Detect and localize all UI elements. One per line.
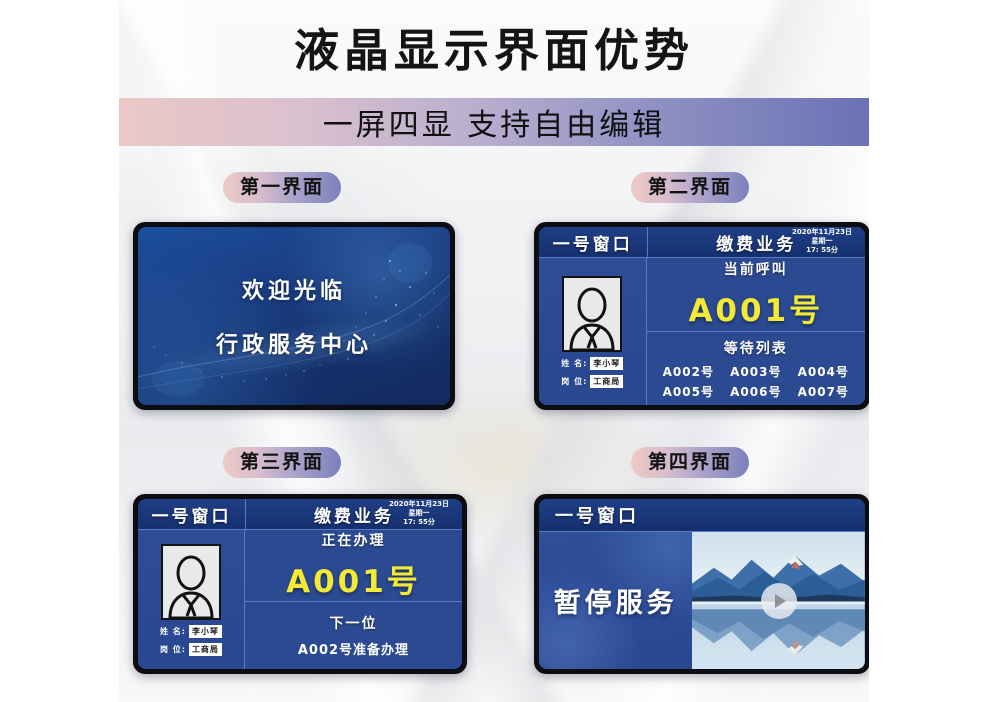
- waiting-ticket: A004号: [790, 363, 857, 380]
- processing-body: 姓 名: 李小琴 岗 位: 工商局 正在办理 A001号: [138, 530, 462, 669]
- time-text: 17: 55分: [783, 246, 861, 255]
- staff-name-row: 姓 名: 李小琴: [160, 625, 222, 638]
- paused-header: 一号窗口: [539, 499, 865, 532]
- waiting-ticket: A002号: [655, 363, 722, 380]
- processing-number: A001号: [286, 556, 421, 601]
- welcome-display: 欢迎光临 行政服务中心: [138, 227, 450, 405]
- processing-label: 正在办理: [321, 530, 385, 550]
- paused-display: 一号窗口 暂停服务: [539, 499, 865, 669]
- badge-interface-2: 第二界面: [631, 172, 749, 203]
- page-title: 液晶显示界面优势: [119, 14, 869, 79]
- waiting-list-grid: A002号 A003号 A004号 A005号 A006号 A007号: [647, 363, 865, 400]
- waiting-list-label: 等待列表: [724, 338, 788, 358]
- current-call-section: 当前呼叫 A001号: [647, 258, 865, 332]
- poster-stage: 液晶显示界面优势 一屏四显 支持自由编辑 第一界面 第二界面 第三界面 第四界面: [119, 0, 869, 702]
- screen-processing: 一号窗口 缴费业务 2020年11月23日 星期一 17: 55分: [138, 499, 462, 669]
- waiting-ticket: A007号: [790, 383, 857, 400]
- staff-avatar: [562, 276, 622, 352]
- monitor-frame-4: 一号窗口 暂停服务: [534, 494, 869, 674]
- datetime-block: 2020年11月23日 星期一 17: 55分: [783, 228, 861, 254]
- badge-interface-1: 第一界面: [223, 172, 341, 203]
- badge-interface-3: 第三界面: [223, 447, 341, 478]
- paused-status-panel: 暂停服务: [539, 532, 692, 669]
- weekday-text: 星期一: [380, 509, 458, 518]
- staff-name-value: 李小琴: [590, 357, 623, 370]
- processing-right-column: 正在办理 A001号 下一位 A002号准备办理: [245, 530, 462, 669]
- page-subtitle: 一屏四显 支持自由编辑: [119, 98, 869, 146]
- next-up-section: 下一位 A002号准备办理: [245, 602, 462, 669]
- window-label-cell: 一号窗口: [138, 499, 246, 529]
- processing-current-section: 正在办理 A001号: [245, 530, 462, 602]
- staff-id-card: 姓 名: 李小琴 岗 位: 工商局: [539, 258, 647, 405]
- staff-post-row: 岗 位: 工商局: [561, 375, 623, 388]
- person-icon: [564, 278, 620, 350]
- monitor-frame-2: 一号窗口 缴费业务 2020年11月23日 星期一 17: 55分: [534, 222, 869, 410]
- staff-post-value: 工商局: [189, 643, 222, 656]
- current-call-number: A001号: [688, 285, 823, 330]
- paused-status-text: 暂停服务: [554, 581, 678, 620]
- waiting-ticket: A006号: [722, 383, 789, 400]
- staff-avatar: [161, 544, 221, 620]
- play-button[interactable]: [761, 583, 797, 619]
- staff-id-card: 姓 名: 李小琴 岗 位: 工商局: [138, 530, 245, 669]
- calling-right-column: 当前呼叫 A001号 等待列表 A002号 A003号 A004号 A005号 …: [647, 258, 865, 405]
- staff-post-key: 岗 位:: [160, 644, 186, 655]
- current-call-label: 当前呼叫: [724, 259, 788, 279]
- time-text: 17: 55分: [380, 518, 458, 527]
- window-label: 一号窗口: [555, 502, 639, 528]
- play-triangle-icon: [775, 594, 786, 608]
- staff-name-row: 姓 名: 李小琴: [561, 357, 623, 370]
- staff-post-value: 工商局: [590, 375, 623, 388]
- staff-post-row: 岗 位: 工商局: [160, 643, 222, 656]
- waiting-ticket: A003号: [722, 363, 789, 380]
- person-icon: [163, 546, 219, 618]
- staff-name-value: 李小琴: [189, 625, 222, 638]
- particles-decoration: [138, 227, 450, 405]
- waiting-list-section: 等待列表 A002号 A003号 A004号 A005号 A006号 A007号: [647, 332, 865, 405]
- subtitle-band: 一屏四显 支持自由编辑: [119, 98, 869, 146]
- next-up-label: 下一位: [329, 613, 377, 633]
- window-label: 一号窗口: [151, 502, 231, 527]
- date-text: 2020年11月23日: [783, 228, 861, 237]
- calling-header: 一号窗口 缴费业务 2020年11月23日 星期一 17: 55分: [539, 227, 865, 258]
- screen-paused: 一号窗口 暂停服务: [539, 499, 865, 669]
- next-up-text: A002号准备办理: [298, 639, 409, 658]
- screen-calling: 一号窗口 缴费业务 2020年11月23日 星期一 17: 55分: [539, 227, 865, 405]
- processing-display: 一号窗口 缴费业务 2020年11月23日 星期一 17: 55分: [138, 499, 462, 669]
- waiting-ticket: A005号: [655, 383, 722, 400]
- badge-interface-4: 第四界面: [631, 447, 749, 478]
- date-text: 2020年11月23日: [380, 500, 458, 509]
- staff-name-key: 姓 名:: [561, 358, 587, 369]
- paused-body: 暂停服务: [539, 532, 865, 669]
- processing-header: 一号窗口 缴费业务 2020年11月23日 星期一 17: 55分: [138, 499, 462, 530]
- window-label-cell: 一号窗口: [539, 227, 648, 257]
- staff-post-key: 岗 位:: [561, 376, 587, 387]
- welcome-line-1: 欢迎光临: [242, 273, 346, 305]
- monitor-frame-1: 欢迎光临 行政服务中心: [133, 222, 455, 410]
- video-panel[interactable]: [692, 532, 865, 669]
- datetime-block: 2020年11月23日 星期一 17: 55分: [380, 500, 458, 526]
- monitor-frame-3: 一号窗口 缴费业务 2020年11月23日 星期一 17: 55分: [133, 494, 467, 674]
- staff-name-key: 姓 名:: [160, 626, 186, 637]
- window-label: 一号窗口: [553, 230, 633, 255]
- calling-body: 姓 名: 李小琴 岗 位: 工商局 当前呼叫 A001号: [539, 258, 865, 405]
- calling-display: 一号窗口 缴费业务 2020年11月23日 星期一 17: 55分: [539, 227, 865, 405]
- welcome-line-2: 行政服务中心: [216, 327, 372, 359]
- screen-welcome: 欢迎光临 行政服务中心: [138, 227, 450, 405]
- weekday-text: 星期一: [783, 237, 861, 246]
